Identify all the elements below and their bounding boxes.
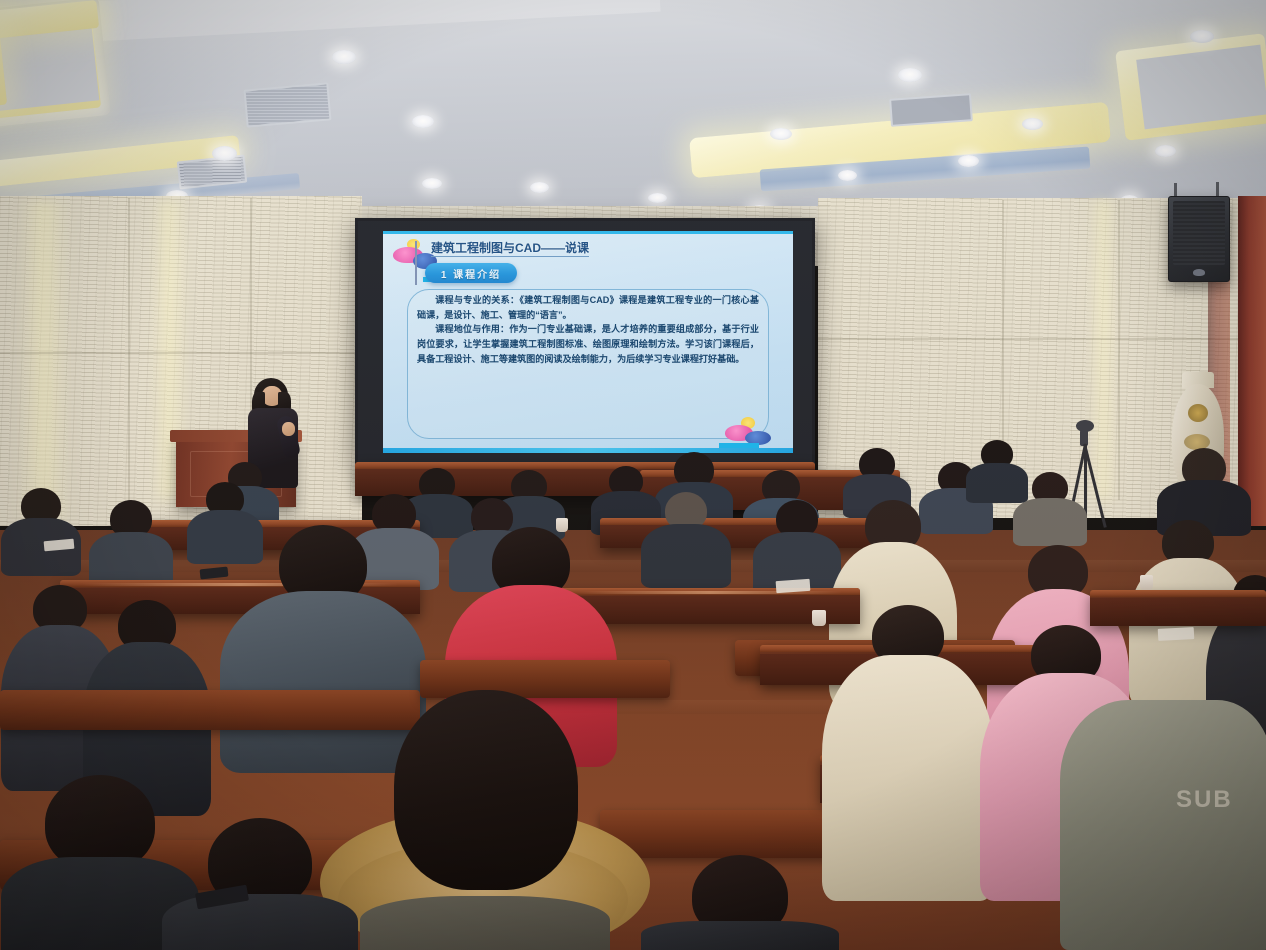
cup — [1140, 575, 1153, 590]
ceiling-air-vent — [244, 82, 332, 127]
recessed-downlight — [1155, 145, 1176, 157]
cup — [812, 610, 826, 626]
paper-sheet — [1158, 627, 1195, 641]
jacket-logo-text: SUB — [1176, 786, 1233, 814]
recessed-downlight — [958, 155, 979, 167]
ceiling-air-vent — [889, 93, 973, 127]
recessed-downlight — [770, 128, 792, 140]
recessed-downlight — [1190, 30, 1214, 43]
list-item — [640, 492, 732, 584]
attendee-olive-jacket — [1058, 700, 1266, 950]
slide-section-badge: 1 课程介绍 — [425, 263, 517, 283]
projection-screen-frame: 建筑工程制图与CAD——说课 1 课程介绍 课程与专业的关系：《建筑工程制图与C… — [355, 218, 815, 466]
lecture-hall-photo: 建筑工程制图与CAD——说课 1 课程介绍 课程与专业的关系：《建筑工程制图与C… — [0, 0, 1266, 950]
recessed-downlight — [530, 182, 549, 193]
list-item — [160, 818, 360, 950]
recessed-downlight — [838, 170, 857, 181]
recessed-downlight — [412, 115, 434, 128]
recessed-downlight — [1022, 118, 1043, 130]
list-item — [1012, 472, 1088, 542]
attendee-front-fur-hood — [320, 690, 650, 950]
wall-speaker — [1168, 196, 1230, 282]
slide-paragraph-2: 课程地位与作用：作为一门专业基础课，是人才培养的重要组成部分，基于行业岗位要求，… — [417, 322, 759, 366]
slide-paragraph-1: 课程与专业的关系：《建筑工程制图与CAD》课程是建筑工程专业的一门核心基础课，是… — [417, 293, 759, 322]
list-item — [88, 500, 174, 586]
recessed-downlight — [898, 68, 922, 82]
presentation-slide: 建筑工程制图与CAD——说课 1 课程介绍 课程与专业的关系：《建筑工程制图与C… — [383, 231, 793, 453]
list-item — [640, 855, 840, 950]
paper-sheet — [776, 579, 811, 593]
recessed-downlight — [212, 146, 237, 161]
recessed-downlight — [422, 178, 442, 189]
recessed-downlight — [332, 50, 356, 64]
slide-decoration-bottom-right — [719, 417, 789, 453]
cup — [556, 518, 568, 532]
recessed-downlight — [648, 193, 667, 203]
slide-top-edge — [383, 231, 793, 234]
slide-body-text: 课程与专业的关系：《建筑工程制图与CAD》课程是建筑工程专业的一门核心基础课，是… — [417, 293, 759, 367]
list-item — [0, 488, 82, 572]
audience-desk — [1090, 590, 1266, 626]
list-item — [820, 605, 995, 895]
slide-title: 建筑工程制图与CAD——说课 — [431, 239, 589, 256]
